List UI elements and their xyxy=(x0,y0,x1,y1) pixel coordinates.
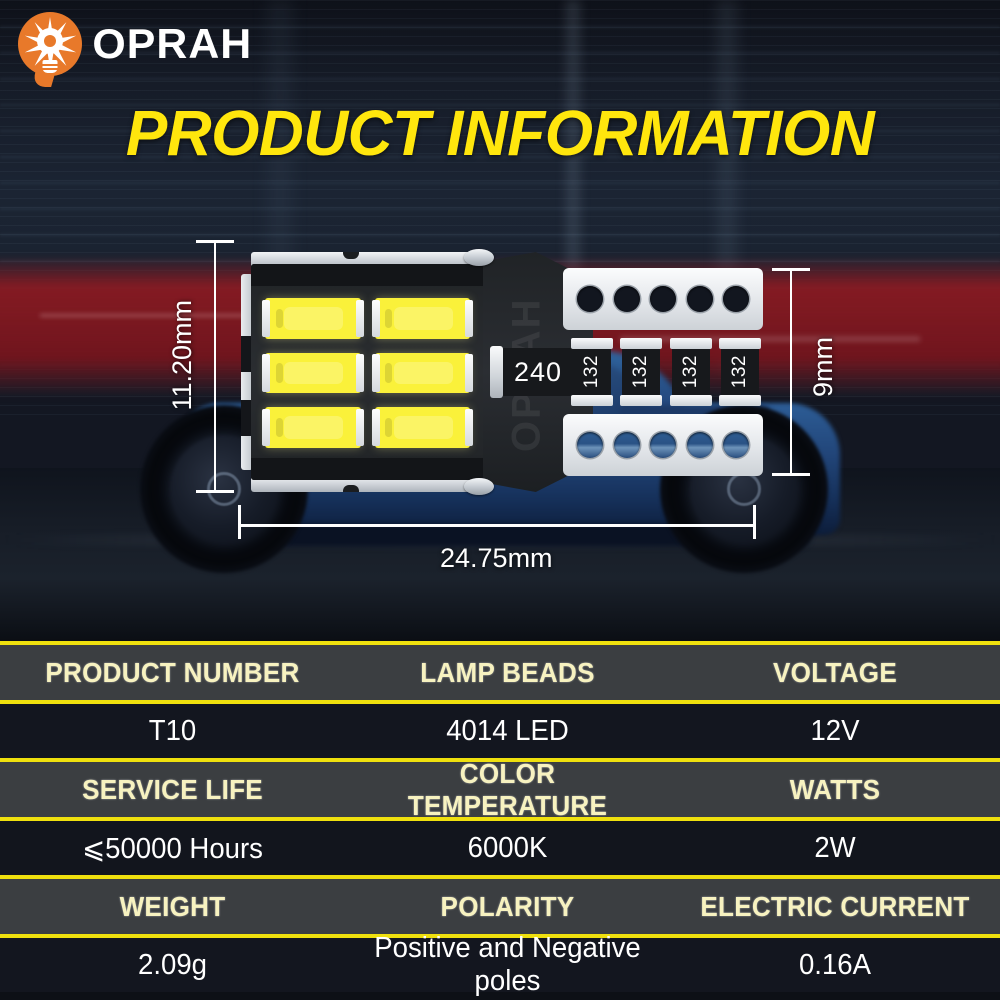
width-dimension-cap-left xyxy=(238,505,241,539)
sun-bulb-speech-bubble-icon xyxy=(18,12,82,76)
table-value-cell: 2W xyxy=(678,832,992,865)
pcb-hole xyxy=(723,432,749,458)
bulb-pcb: 132 132 132 132 xyxy=(563,252,763,492)
pcb-hole xyxy=(687,286,713,312)
table-header-cell: VOLTAGE xyxy=(682,657,989,689)
pcb-hole xyxy=(687,432,713,458)
bulb-notch-bottom xyxy=(343,485,359,492)
pcb-bottom-holes xyxy=(577,432,749,458)
table-header-cell: PRODUCT NUMBER xyxy=(12,657,333,689)
table-value-cell: 12V xyxy=(678,715,992,748)
width-dimension-line xyxy=(238,524,756,527)
table-value-cell: 6000K xyxy=(353,832,662,865)
table-value-row: ⩽50000 Hours 6000K 2W xyxy=(0,821,1000,875)
table-value-cell: 4014 LED xyxy=(353,715,662,748)
pcb-hole xyxy=(614,432,640,458)
table-header-cell: WEIGHT xyxy=(12,891,333,923)
led-chip xyxy=(265,407,361,448)
led-chip xyxy=(375,353,471,394)
table-value-cell: Positive and Negative poles xyxy=(353,932,662,998)
led-chip xyxy=(375,407,471,448)
led-bulb-illustration: OPRAH 240 132 132 132 xyxy=(233,252,763,492)
led-chip-grid xyxy=(265,298,470,448)
bulb-housing-bottom-bar xyxy=(251,458,483,480)
page-title: PRODUCT INFORMATION xyxy=(15,96,985,170)
brand-name: OPRAH xyxy=(92,20,252,68)
table-value-cell: 0.16A xyxy=(678,949,992,982)
depth-dimension-label: 9mm xyxy=(808,337,839,397)
height-dimension-line xyxy=(214,240,216,493)
depth-dimension-cap-bottom xyxy=(772,473,810,476)
pcb-hole xyxy=(650,432,676,458)
height-dimension-label: 11.20mm xyxy=(167,300,198,411)
led-chip xyxy=(265,298,361,339)
table-value-row: 2.09g Positive and Negative poles 0.16A xyxy=(0,938,1000,992)
bulb-housing-top-bar xyxy=(251,264,483,286)
bulb-rivet-top xyxy=(464,249,494,266)
table-header-cell: SERVICE LIFE xyxy=(12,774,333,806)
brand-logo: OPRAH xyxy=(18,12,251,76)
bulb-core xyxy=(37,28,63,54)
resistor-132: 132 xyxy=(721,344,759,400)
pcb-hole xyxy=(614,286,640,312)
table-header-cell: LAMP BEADS xyxy=(356,657,658,689)
resistor-132-row: 132 132 132 132 xyxy=(573,344,759,400)
table-value-cell: T10 xyxy=(9,715,337,748)
pcb-hole xyxy=(723,286,749,312)
table-header-row: PRODUCT NUMBER LAMP BEADS VOLTAGE xyxy=(0,645,1000,700)
resistor-132: 132 xyxy=(672,344,710,400)
depth-dimension-cap-top xyxy=(772,268,810,271)
table-value-cell: ⩽50000 Hours xyxy=(9,831,337,866)
table-header-row: SERVICE LIFE COLOR TEMPERATURE WATTS xyxy=(0,762,1000,817)
width-dimension-label: 24.75mm xyxy=(440,543,553,574)
bulb-rivet-bottom xyxy=(464,478,494,495)
table-header-row: WEIGHT POLARITY ELECTRIC CURRENT xyxy=(0,879,1000,934)
pcb-bottom-strip xyxy=(563,414,763,476)
table-header-cell: COLOR TEMPERATURE xyxy=(356,758,658,822)
table-value-cell: 2.09g xyxy=(9,949,337,982)
resistor-132: 132 xyxy=(622,344,660,400)
led-chip xyxy=(265,353,361,394)
table-header-cell: ELECTRIC CURRENT xyxy=(682,891,989,923)
table-value-row: T10 4014 LED 12V xyxy=(0,704,1000,758)
pcb-hole xyxy=(577,432,603,458)
pcb-top-holes xyxy=(577,286,749,312)
table-header-cell: POLARITY xyxy=(356,891,658,923)
pcb-top-strip xyxy=(563,268,763,330)
resistor-132: 132 xyxy=(573,344,611,400)
table-header-cell: WATTS xyxy=(682,774,989,806)
pcb-hole xyxy=(577,286,603,312)
width-dimension-cap-right xyxy=(753,505,756,539)
bulb-base xyxy=(43,60,58,73)
pcb-hole xyxy=(650,286,676,312)
depth-dimension-line xyxy=(790,268,792,476)
height-dimension-cap-bottom xyxy=(196,490,234,493)
led-chip xyxy=(375,298,471,339)
height-dimension-cap-top xyxy=(196,240,234,243)
spec-table: PRODUCT NUMBER LAMP BEADS VOLTAGE T10 40… xyxy=(0,641,1000,1000)
